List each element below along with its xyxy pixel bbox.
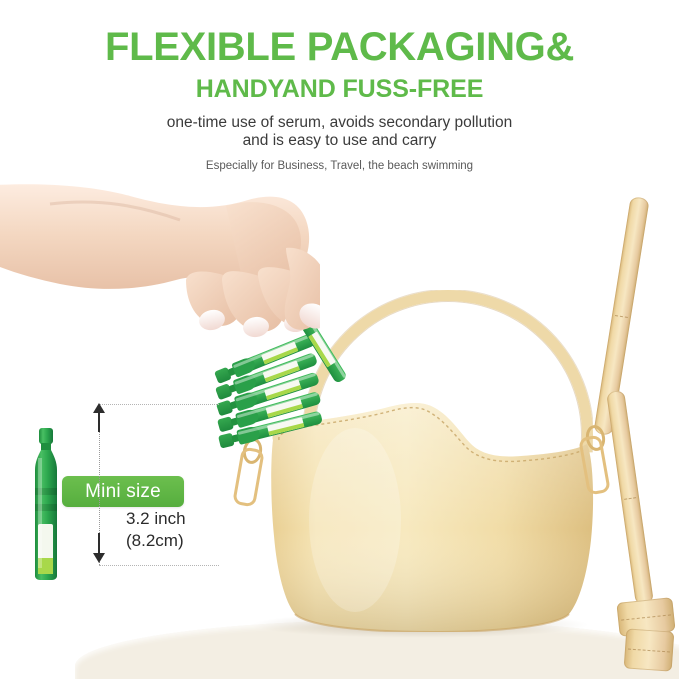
dimension-text: 3.2 inch (8.2cm) [126,508,236,552]
dimension-stem-top [98,410,100,432]
dimension-inch: 3.2 inch [126,508,236,530]
page-title: FLEXIBLE PACKAGING& [0,27,679,67]
header-block: FLEXIBLE PACKAGING& HANDYAND FUSS-FREE o… [0,0,679,173]
description-line-1: one-time use of serum, avoids secondary … [0,114,679,132]
page-subtitle: HANDYAND FUSS-FREE [0,77,679,102]
dimension-guide-bottom [99,565,219,566]
ampoule-reference [32,428,60,580]
dimension-stem-bottom [98,533,100,555]
hand-icon [0,176,320,366]
mini-size-badge: Mini size [62,476,184,507]
dimension-cm: (8.2cm) [126,530,236,552]
product-infographic: FLEXIBLE PACKAGING& HANDYAND FUSS-FREE o… [0,0,679,679]
mini-size-label: Mini size [85,481,161,503]
handbag-body [265,400,595,632]
shoulder-strap-lower [606,390,654,605]
bag-buckle-left [232,446,265,507]
dimension-guide-top [99,404,219,405]
shoulder-strap-loop-b [624,628,675,671]
usage-caption: Especially for Business, Travel, the bea… [0,160,679,174]
description-line-2: and is easy to use and carry [0,132,679,150]
